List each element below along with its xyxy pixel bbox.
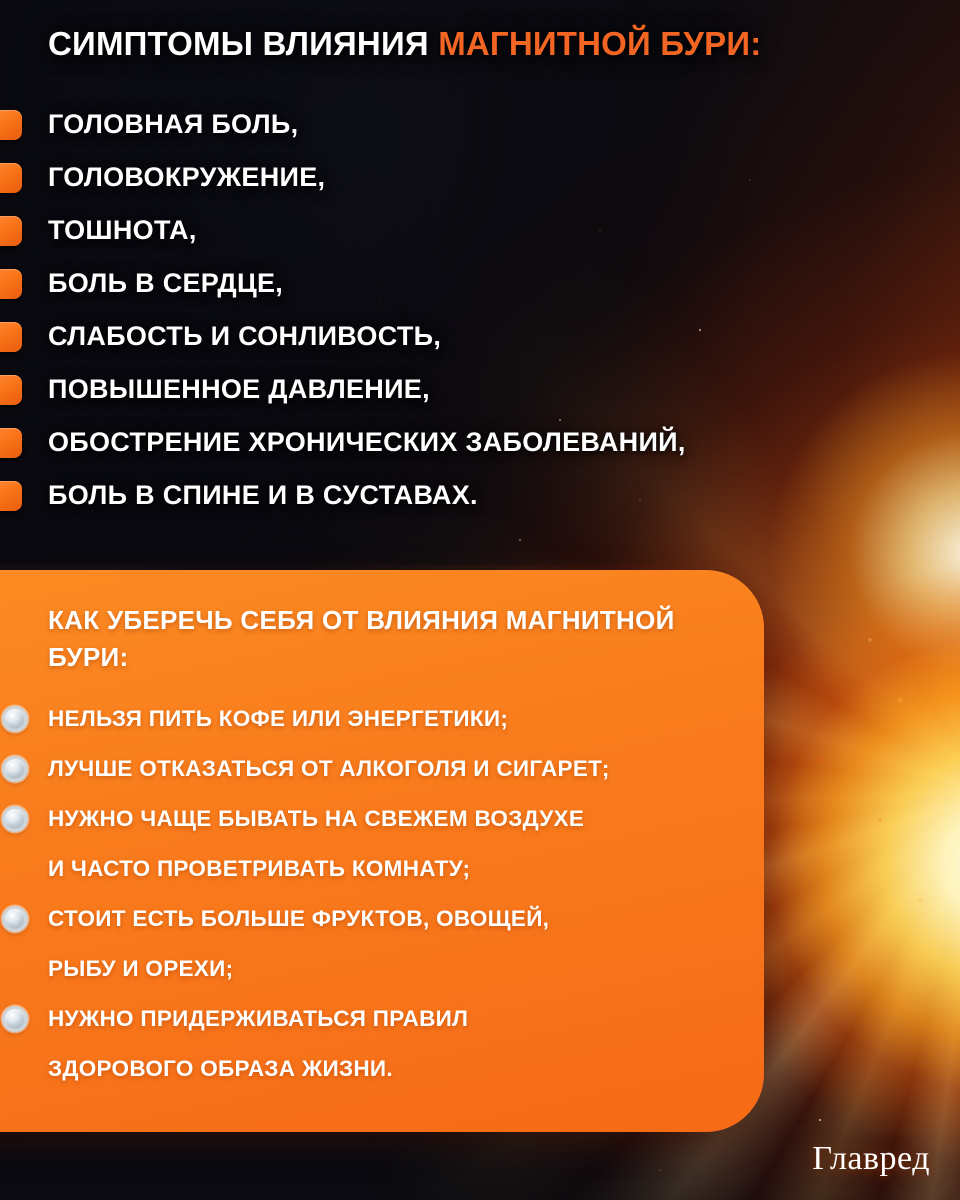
orange-square-bullet-icon bbox=[0, 322, 22, 352]
silver-ring-bullet-icon bbox=[2, 1006, 28, 1032]
advice-tip-label: ЗДОРОВОГО ОБРАЗА ЖИЗНИ. bbox=[48, 1056, 393, 1082]
advice-tip-label: НЕЛЬЗЯ ПИТЬ КОФЕ ИЛИ ЭНЕРГЕТИКИ; bbox=[48, 706, 508, 732]
symptom-row: БОЛЬ В СПИНЕ И В СУСТАВАХ. bbox=[0, 469, 940, 522]
advice-tip-continuation-row: РЫБУ И ОРЕХИ; bbox=[0, 944, 764, 994]
symptom-label: ОБОСТРЕНИЕ ХРОНИЧЕСКИХ ЗАБОЛЕВАНИЙ, bbox=[48, 427, 686, 458]
symptoms-list: ГОЛОВНАЯ БОЛЬ,ГОЛОВОКРУЖЕНИЕ,ТОШНОТА,БОЛ… bbox=[0, 98, 940, 522]
advice-tip-label: ЛУЧШЕ ОТКАЗАТЬСЯ ОТ АЛКОГОЛЯ И СИГАРЕТ; bbox=[48, 756, 610, 782]
advice-tip-row: НЕЛЬЗЯ ПИТЬ КОФЕ ИЛИ ЭНЕРГЕТИКИ; bbox=[0, 694, 764, 744]
symptom-row: СЛАБОСТЬ И СОНЛИВОСТЬ, bbox=[0, 310, 940, 363]
advice-tip-row: НУЖНО ЧАЩЕ БЫВАТЬ НА СВЕЖЕМ ВОЗДУХЕ bbox=[0, 794, 764, 844]
symptom-row: БОЛЬ В СЕРДЦЕ, bbox=[0, 257, 940, 310]
symptom-row: ГОЛОВОКРУЖЕНИЕ, bbox=[0, 151, 940, 204]
symptom-row: ПОВЫШЕННОЕ ДАВЛЕНИЕ, bbox=[0, 363, 940, 416]
symptom-label: ТОШНОТА, bbox=[48, 215, 197, 246]
symptom-label: ГОЛОВНАЯ БОЛЬ, bbox=[48, 109, 298, 140]
page-title-accent: МАГНИТНОЙ БУРИ: bbox=[438, 25, 761, 62]
orange-square-bullet-icon bbox=[0, 481, 22, 511]
publisher-logo: Главред bbox=[812, 1140, 930, 1178]
advice-tip-continuation-row: ЗДОРОВОГО ОБРАЗА ЖИЗНИ. bbox=[0, 1044, 764, 1094]
silver-ring-bullet-icon bbox=[2, 906, 28, 932]
advice-tip-row: НУЖНО ПРИДЕРЖИВАТЬСЯ ПРАВИЛ bbox=[0, 994, 764, 1044]
advice-tip-label: НУЖНО ПРИДЕРЖИВАТЬСЯ ПРАВИЛ bbox=[48, 1006, 468, 1032]
symptom-label: ПОВЫШЕННОЕ ДАВЛЕНИЕ, bbox=[48, 374, 430, 405]
orange-square-bullet-icon bbox=[0, 110, 22, 140]
symptom-row: ОБОСТРЕНИЕ ХРОНИЧЕСКИХ ЗАБОЛЕВАНИЙ, bbox=[0, 416, 940, 469]
symptom-label: БОЛЬ В СЕРДЦЕ, bbox=[48, 268, 283, 299]
page-title: СИМПТОМЫ ВЛИЯНИЯ МАГНИТНОЙ БУРИ: bbox=[48, 26, 928, 62]
page-title-plain: СИМПТОМЫ ВЛИЯНИЯ bbox=[48, 25, 429, 62]
infographic-poster: СИМПТОМЫ ВЛИЯНИЯ МАГНИТНОЙ БУРИ: ГОЛОВНА… bbox=[0, 0, 960, 1200]
advice-tip-continuation-row: И ЧАСТО ПРОВЕТРИВАТЬ КОМНАТУ; bbox=[0, 844, 764, 894]
symptom-label: БОЛЬ В СПИНЕ И В СУСТАВАХ. bbox=[48, 480, 478, 511]
advice-tip-row: СТОИТ ЕСТЬ БОЛЬШЕ ФРУКТОВ, ОВОЩЕЙ, bbox=[0, 894, 764, 944]
orange-square-bullet-icon bbox=[0, 375, 22, 405]
advice-tip-row: ЛУЧШЕ ОТКАЗАТЬСЯ ОТ АЛКОГОЛЯ И СИГАРЕТ; bbox=[0, 744, 764, 794]
orange-square-bullet-icon bbox=[0, 163, 22, 193]
advice-tip-label: СТОИТ ЕСТЬ БОЛЬШЕ ФРУКТОВ, ОВОЩЕЙ, bbox=[48, 906, 549, 932]
silver-ring-bullet-icon bbox=[2, 706, 28, 732]
advice-tip-label: И ЧАСТО ПРОВЕТРИВАТЬ КОМНАТУ; bbox=[48, 856, 470, 882]
silver-ring-bullet-icon bbox=[2, 756, 28, 782]
orange-square-bullet-icon bbox=[0, 216, 22, 246]
symptom-label: ГОЛОВОКРУЖЕНИЕ, bbox=[48, 162, 325, 193]
orange-square-bullet-icon bbox=[0, 269, 22, 299]
symptom-label: СЛАБОСТЬ И СОНЛИВОСТЬ, bbox=[48, 321, 441, 352]
advice-tip-label: РЫБУ И ОРЕХИ; bbox=[48, 956, 233, 982]
advice-tips-list: НЕЛЬЗЯ ПИТЬ КОФЕ ИЛИ ЭНЕРГЕТИКИ;ЛУЧШЕ ОТ… bbox=[0, 694, 764, 1094]
symptom-row: ГОЛОВНАЯ БОЛЬ, bbox=[0, 98, 940, 151]
advice-panel-title: КАК УБЕРЕЧЬ СЕБЯ ОТ ВЛИЯНИЯ МАГНИТНОЙ БУ… bbox=[48, 602, 688, 676]
silver-ring-bullet-icon bbox=[2, 806, 28, 832]
advice-panel: КАК УБЕРЕЧЬ СЕБЯ ОТ ВЛИЯНИЯ МАГНИТНОЙ БУ… bbox=[0, 570, 764, 1132]
orange-square-bullet-icon bbox=[0, 428, 22, 458]
advice-tip-label: НУЖНО ЧАЩЕ БЫВАТЬ НА СВЕЖЕМ ВОЗДУХЕ bbox=[48, 806, 584, 832]
symptom-row: ТОШНОТА, bbox=[0, 204, 940, 257]
